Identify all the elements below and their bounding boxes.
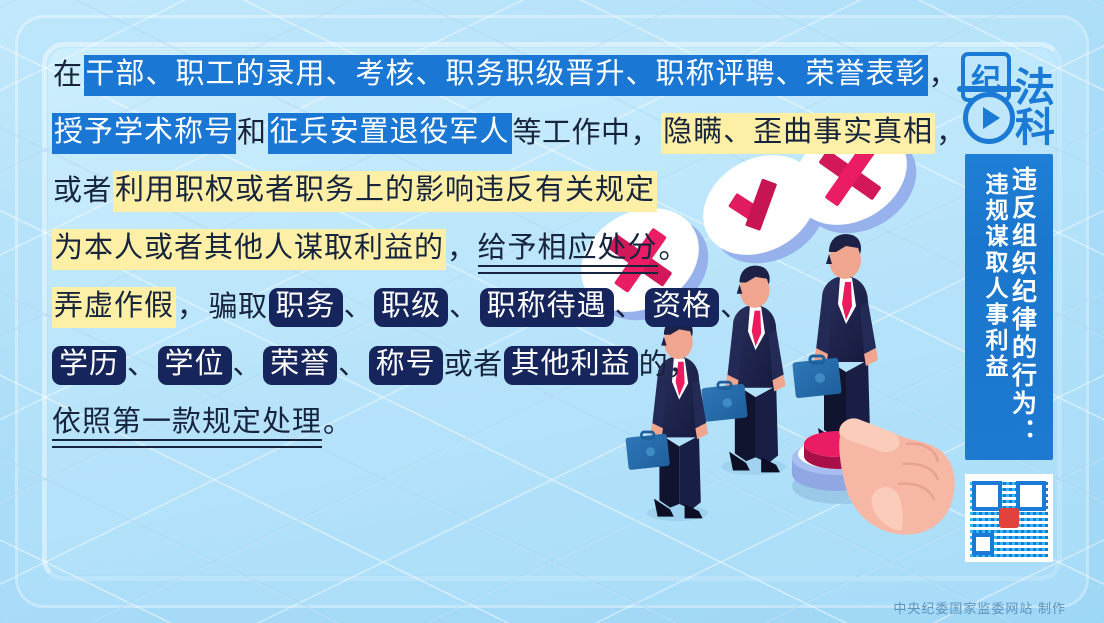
segment-plain: 骗取: [208, 293, 269, 322]
qr-pattern: [970, 479, 1048, 557]
segment-pill: 职务: [269, 288, 343, 327]
banner-column-left: 违规谋取人事利益: [983, 166, 1007, 446]
segment-pill: 职级: [374, 288, 448, 327]
segment-hl-yellow: 弄虚作假: [52, 287, 176, 328]
qr-center-logo: [999, 508, 1019, 528]
text-line-line-2: 授予学术称号和征兵安置退役军人等工作中，隐瞒、歪曲事实真相，: [52, 104, 932, 162]
segment-pill: 职称待遇: [480, 288, 614, 327]
text-line-line-3: 或者利用职权或者职务上的影响违反有关规定: [52, 162, 932, 220]
segment-plain: 或者: [52, 177, 113, 206]
segment-hl-yellow: 为本人或者其他人谋取利益的: [52, 229, 446, 270]
credit-line: 中央纪委国家监委网站 制作: [893, 598, 1066, 617]
jifa-baike-logo[interactable]: 纪 法 科: [957, 46, 1061, 150]
segment-plain: 等工作中，: [512, 119, 662, 148]
text-line-line-7: 依照第一款规定处理。: [52, 394, 932, 452]
vertical-title-banner: 违反组织纪律的行为： 违规谋取人事利益: [965, 154, 1053, 460]
segment-hl-blue: 干部、职工的录用、考核、职务职级晋升、职称评聘、荣誉表彰: [84, 55, 928, 96]
text-line-line-6: 学历、学位、荣誉、称号或者其他利益的，: [52, 336, 932, 394]
segment-uline: 给予相应处分: [478, 234, 658, 265]
segment-pill: 学历: [52, 346, 126, 385]
segment-plain: 或者: [443, 351, 504, 380]
segment-plain: ，: [446, 235, 478, 264]
segment-plain: ，: [928, 61, 960, 90]
segment-pill: 其他利益: [504, 346, 638, 385]
right-sidebar: 纪 法 科 违反组织纪律的行为： 违规谋取人事利益: [956, 46, 1062, 562]
segment-pill: 资格: [645, 288, 719, 327]
segment-plain: 在: [52, 61, 84, 90]
segment-pill: 学位: [158, 346, 232, 385]
segment-sep: 、: [719, 293, 751, 322]
segment-sep: 、: [343, 293, 375, 322]
text-line-line-4: 为本人或者其他人谋取利益的，给予相应处分。: [52, 220, 932, 278]
segment-hl-blue: 征兵安置退役军人: [268, 113, 512, 154]
qr-code[interactable]: [965, 474, 1053, 562]
segment-plain: 的，: [638, 351, 699, 380]
text-line-line-5: 弄虚作假，骗取职务、职级、职称待遇、资格、: [52, 278, 932, 336]
logo-char-fa: 法: [1015, 68, 1055, 108]
text-line-line-1: 在干部、职工的录用、考核、职务职级晋升、职称评聘、荣誉表彰，: [52, 46, 932, 104]
logo-char-ke: 科: [1015, 108, 1055, 148]
segment-sep: 、: [232, 351, 264, 380]
segment-plain: 。: [658, 235, 690, 264]
segment-pill: 荣誉: [263, 346, 337, 385]
logo-play-icon: [963, 92, 1015, 144]
segment-pill: 称号: [369, 346, 443, 385]
segment-sep: 、: [126, 351, 158, 380]
segment-plain: ，: [176, 293, 208, 322]
segment-sep: 、: [337, 351, 369, 380]
article-body: 在干部、职工的录用、考核、职务职级晋升、职称评聘、荣誉表彰， 授予学术称号和征兵…: [52, 46, 932, 452]
segment-hl-yellow: 隐瞒、歪曲事实真相: [661, 113, 935, 154]
banner-column-right: 违反组织纪律的行为：: [1009, 166, 1036, 446]
segment-hl-blue: 授予学术称号: [52, 113, 236, 154]
poster-root: 在干部、职工的录用、考核、职务职级晋升、职称评聘、荣誉表彰， 授予学术称号和征兵…: [0, 0, 1104, 623]
segment-sep: 、: [614, 293, 646, 322]
segment-plain: 和: [236, 119, 268, 148]
qr-eye-bottom-left: [972, 533, 994, 555]
segment-plain: 。: [322, 409, 354, 438]
segment-hl-yellow: 利用职权或者职务上的影响违反有关规定: [113, 171, 657, 212]
segment-uline: 依照第一款规定处理: [52, 408, 322, 439]
segment-sep: 、: [448, 293, 480, 322]
